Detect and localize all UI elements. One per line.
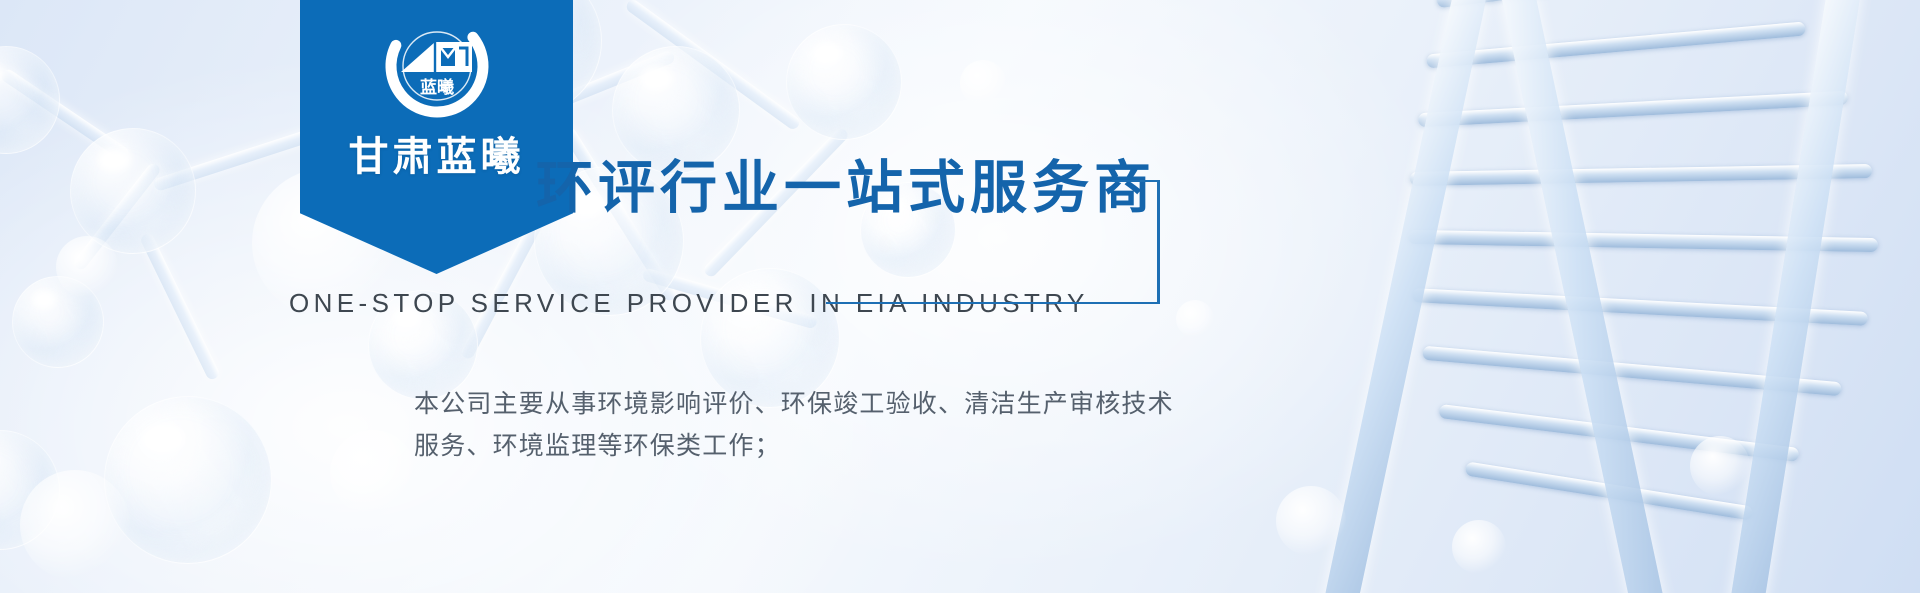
bracket-rule-icon bbox=[1157, 180, 1160, 304]
bracket-rule-icon bbox=[1112, 180, 1160, 182]
hero-description: 本公司主要从事环境影响评价、环保竣工验收、清洁生产审核技术 服务、环境监理等环保… bbox=[414, 383, 1314, 467]
logo-mark-text: 蓝曦 bbox=[420, 77, 454, 98]
page-title: 环评行业一站式服务商 bbox=[536, 142, 1156, 224]
company-name: 甘肃蓝曦 bbox=[300, 124, 573, 182]
dna-helix-icon bbox=[1360, 0, 1920, 593]
hero-banner: 蓝曦 甘肃蓝曦 环评行业一站式服务商 ONE-STOP SERVICE PROV… bbox=[0, 0, 1920, 593]
book-circle-logo-icon: 蓝曦 bbox=[375, 8, 499, 132]
brand-pennant: 蓝曦 甘肃蓝曦 bbox=[300, 0, 573, 274]
hero-description-line: 本公司主要从事环境影响评价、环保竣工验收、清洁生产审核技术 bbox=[414, 383, 1314, 425]
hero-description-line: 服务、环境监理等环保类工作； bbox=[414, 425, 1314, 467]
bracket-rule-icon bbox=[826, 302, 1158, 304]
